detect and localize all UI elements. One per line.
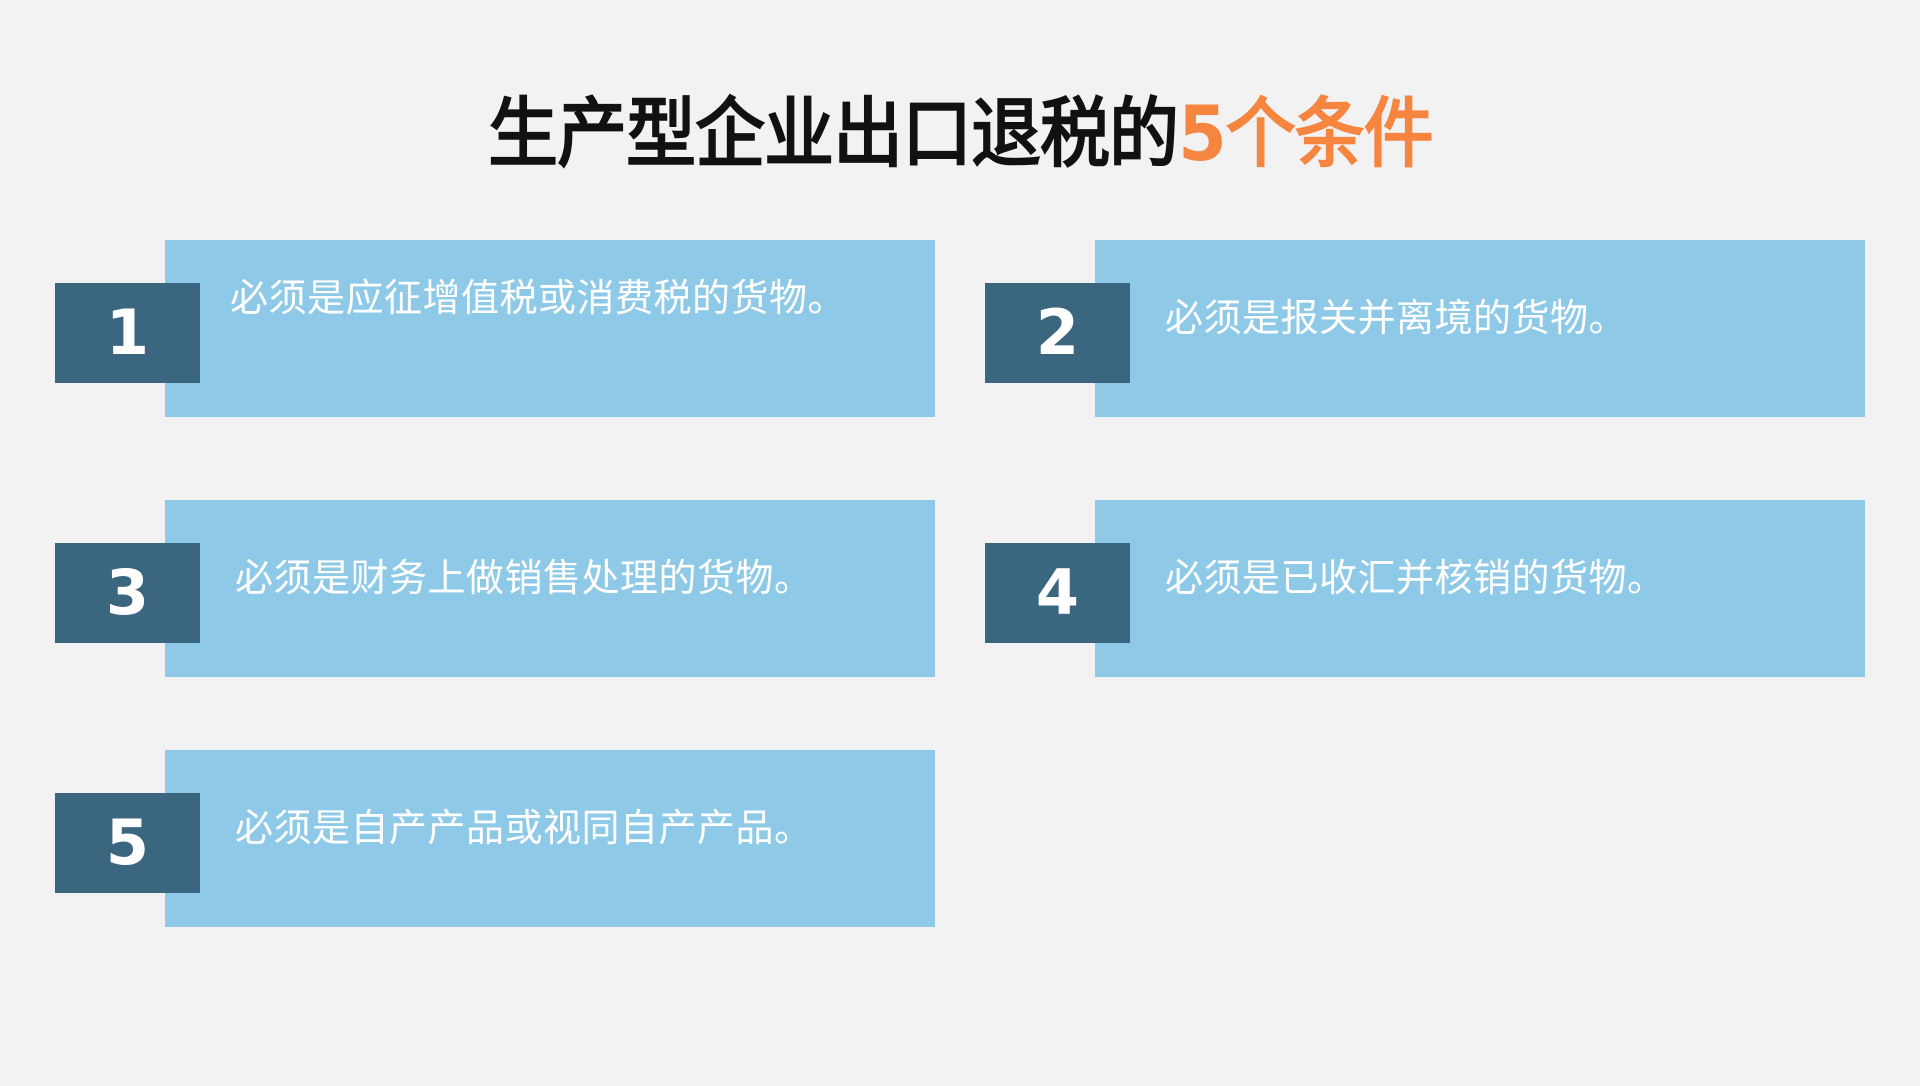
title-accent-text: 5个条件 <box>1178 89 1433 178</box>
condition-card-1[interactable]: 1 必须是应征增值税或消费税的货物。 <box>55 240 935 420</box>
card-panel-1 <box>165 240 935 417</box>
card-number-badge-4: 4 <box>985 543 1130 643</box>
card-number-badge-5: 5 <box>55 793 200 893</box>
card-text-2: 必须是报关并离境的货物。 <box>1165 295 1845 341</box>
card-number-badge-3: 3 <box>55 543 200 643</box>
condition-card-5[interactable]: 5 必须是自产产品或视同自产产品。 <box>55 750 935 930</box>
card-text-5: 必须是自产产品或视同自产产品。 <box>235 805 915 851</box>
card-number-badge-1: 1 <box>55 283 200 383</box>
page-title: 生产型企业出口退税的5个条件 <box>0 96 1920 172</box>
card-text-3: 必须是财务上做销售处理的货物。 <box>235 555 915 601</box>
title-main-text: 生产型企业出口退税的 <box>488 89 1178 178</box>
conditions-card-grid: 1 必须是应征增值税或消费税的货物。 2 必须是报关并离境的货物。 3 必须是财… <box>0 240 1920 1000</box>
slide-canvas: 生产型企业出口退税的5个条件 1 必须是应征增值税或消费税的货物。 2 必须是报… <box>0 0 1920 1086</box>
condition-card-4[interactable]: 4 必须是已收汇并核销的货物。 <box>985 500 1865 680</box>
title-text-group: 生产型企业出口退税的5个条件 <box>488 96 1433 172</box>
card-text-4: 必须是已收汇并核销的货物。 <box>1165 555 1845 601</box>
card-text-1: 必须是应征增值税或消费税的货物。 <box>230 275 920 321</box>
condition-card-3[interactable]: 3 必须是财务上做销售处理的货物。 <box>55 500 935 680</box>
card-number-badge-2: 2 <box>985 283 1130 383</box>
condition-card-2[interactable]: 2 必须是报关并离境的货物。 <box>985 240 1865 420</box>
